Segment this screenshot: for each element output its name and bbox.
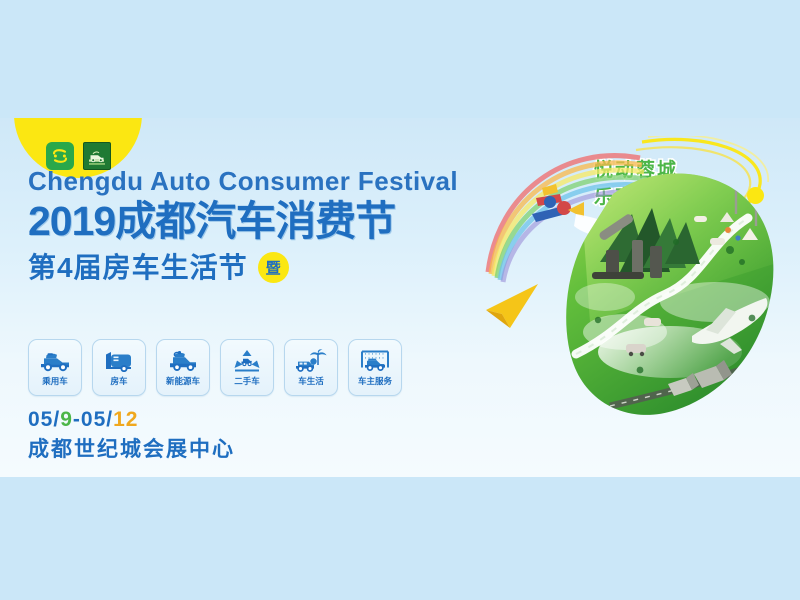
subtitle-row: 第4届房车生活节 暨 (28, 252, 458, 283)
category-label: 车生活 (298, 375, 324, 387)
date-part-3: -05/ (73, 408, 113, 431)
palm-beach-car-icon (294, 348, 328, 374)
title-english: Chengdu Auto Consumer Festival (28, 168, 458, 194)
car-wash-service-icon (358, 348, 392, 374)
date-part-1: 05/ (28, 408, 60, 431)
new-energy-car-icon (166, 348, 200, 374)
category-card-new-energy[interactable]: 新能源车 (156, 339, 210, 396)
category-card-owner-service[interactable]: 车主服务 (348, 339, 402, 396)
green-island-landscape-illustration (480, 122, 796, 474)
paper-plane-icon (486, 284, 538, 328)
event-date: 05/9-05/12 (28, 408, 235, 431)
rv-caravan-icon (102, 348, 136, 374)
category-card-used-car[interactable]: 二手车 (220, 339, 274, 396)
category-label: 乘用车 (42, 375, 68, 387)
headline-block: Chengdu Auto Consumer Festival 2019成都汽车消… (28, 168, 458, 283)
subtitle-chinese: 第4届房车生活节 (28, 254, 248, 282)
recycle-used-car-icon (230, 348, 264, 374)
event-poster-banner: 悦动蓉城 乐享生活 Chengdu Auto Consumer Festival… (0, 118, 800, 477)
title-chinese: 2019成都汽车消费节 (28, 200, 458, 243)
event-venue: 成都世纪城会展中心 (28, 433, 235, 463)
category-label: 车主服务 (358, 375, 392, 387)
passenger-car-icon (38, 348, 72, 374)
ji-badge: 暨 (258, 252, 289, 283)
page-canvas: 悦动蓉城 乐享生活 Chengdu Auto Consumer Festival… (0, 0, 800, 600)
category-label: 二手车 (234, 375, 260, 387)
category-card-rv[interactable]: 房车 (92, 339, 146, 396)
grass-island (566, 160, 784, 415)
date-part-4: 12 (113, 408, 138, 431)
date-venue-block: 05/9-05/12 成都世纪城会展中心 (28, 408, 235, 463)
category-label: 房车 (110, 375, 127, 387)
category-card-row: 乘用车 房车 (28, 339, 402, 396)
date-part-2: 9 (60, 408, 73, 431)
category-card-passenger-car[interactable]: 乘用车 (28, 339, 82, 396)
category-card-car-life[interactable]: 车生活 (284, 339, 338, 396)
category-label: 新能源车 (166, 375, 200, 387)
